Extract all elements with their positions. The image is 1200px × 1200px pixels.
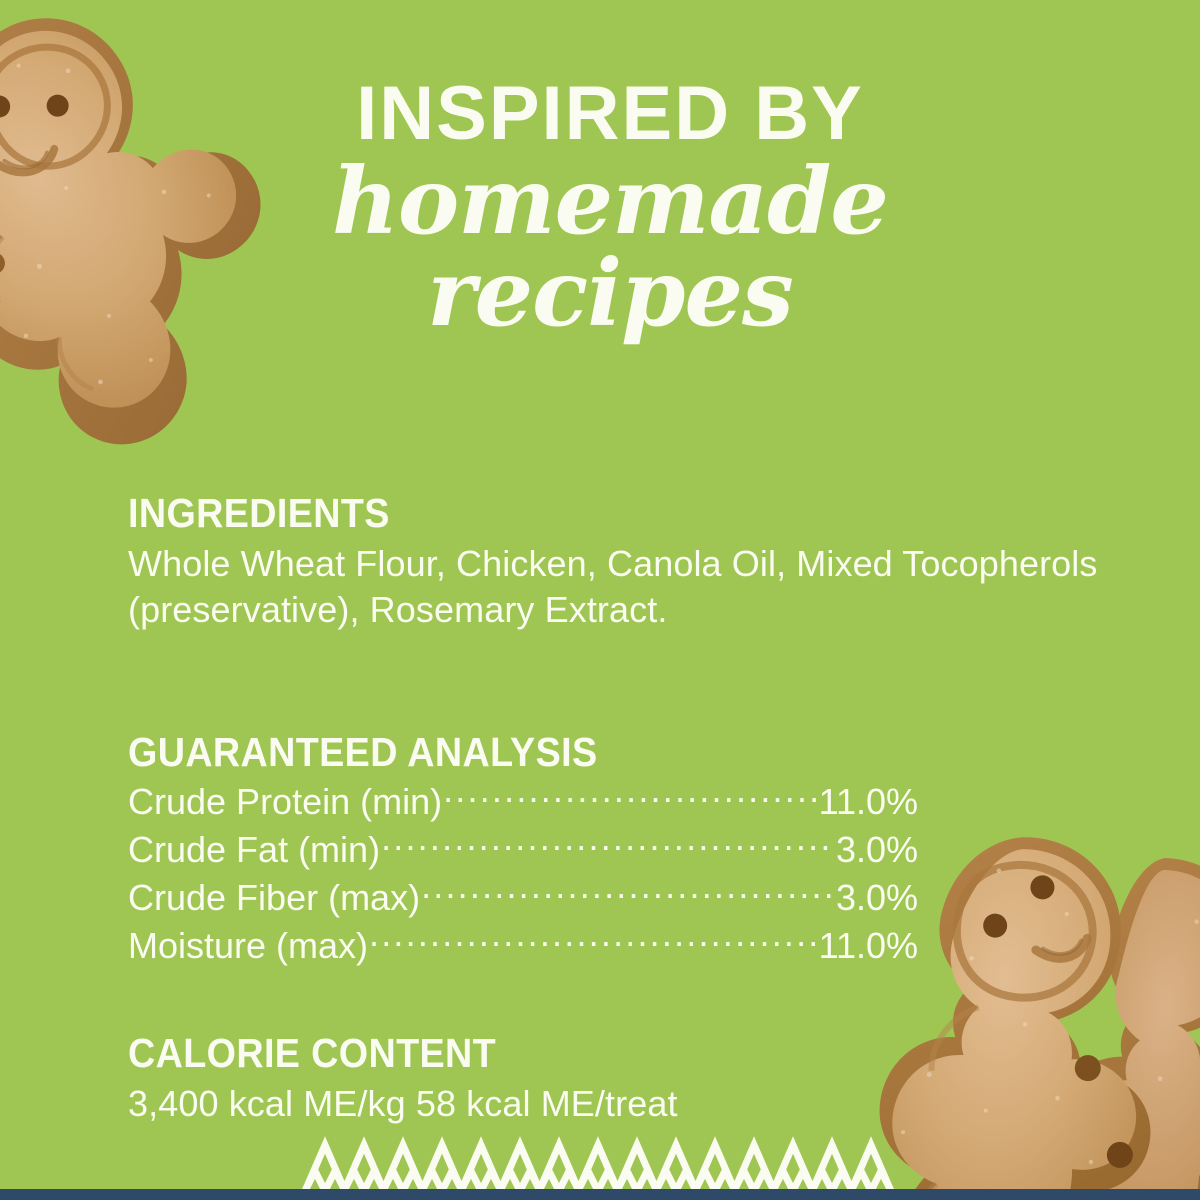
nutrition-info-region: INGREDIENTS Whole Wheat Flour, Chicken, … — [128, 492, 1168, 1127]
hero-heading-group: INSPIRED BY homemade recipes — [300, 78, 920, 339]
analysis-value: 11.0% — [819, 922, 918, 970]
ingredients-heading: INGREDIENTS — [128, 492, 1085, 535]
analysis-value: 3.0% — [836, 826, 918, 874]
guaranteed-analysis-section: GUARANTEED ANALYSIS Crude Protein (min) … — [128, 731, 1168, 970]
dot-leader — [369, 922, 818, 958]
analysis-row: Crude Fiber (max) 3.0% — [128, 874, 918, 922]
hero-script-line-1: homemade — [300, 156, 920, 246]
analysis-row: Moisture (max) 11.0% — [128, 922, 918, 970]
dot-leader — [381, 826, 835, 862]
analysis-label: Moisture (max) — [128, 922, 368, 970]
bottom-accent-bar — [0, 1189, 1200, 1200]
hero-script-line-2: recipes — [300, 248, 920, 338]
calorie-content-text: 3,400 kcal ME/kg 58 kcal ME/treat — [128, 1081, 1168, 1127]
analysis-value: 3.0% — [836, 874, 918, 922]
guaranteed-analysis-rows: Crude Protein (min) 11.0% Crude Fat (min… — [128, 778, 918, 970]
ingredients-section: INGREDIENTS Whole Wheat Flour, Chicken, … — [128, 492, 1168, 633]
analysis-row: Crude Fat (min) 3.0% — [128, 826, 918, 874]
calorie-content-heading: CALORIE CONTENT — [128, 1032, 1085, 1075]
pet-treat-package-back-panel: INSPIRED BY homemade recipes INGREDIENTS… — [0, 0, 1200, 1200]
calorie-content-section: CALORIE CONTENT 3,400 kcal ME/kg 58 kcal… — [128, 1032, 1168, 1127]
guaranteed-analysis-heading: GUARANTEED ANALYSIS — [128, 731, 1085, 774]
analysis-value: 11.0% — [819, 778, 918, 826]
dot-leader — [443, 778, 817, 814]
analysis-label: Crude Fiber (max) — [128, 874, 420, 922]
analysis-label: Crude Protein (min) — [128, 778, 442, 826]
page-title: INSPIRED BY — [300, 78, 920, 150]
dot-leader — [421, 874, 835, 910]
hero-script-subtitle: homemade recipes — [300, 156, 920, 338]
ingredients-text: Whole Wheat Flour, Chicken, Canola Oil, … — [128, 541, 1168, 633]
analysis-label: Crude Fat (min) — [128, 826, 380, 874]
analysis-row: Crude Protein (min) 11.0% — [128, 778, 918, 826]
